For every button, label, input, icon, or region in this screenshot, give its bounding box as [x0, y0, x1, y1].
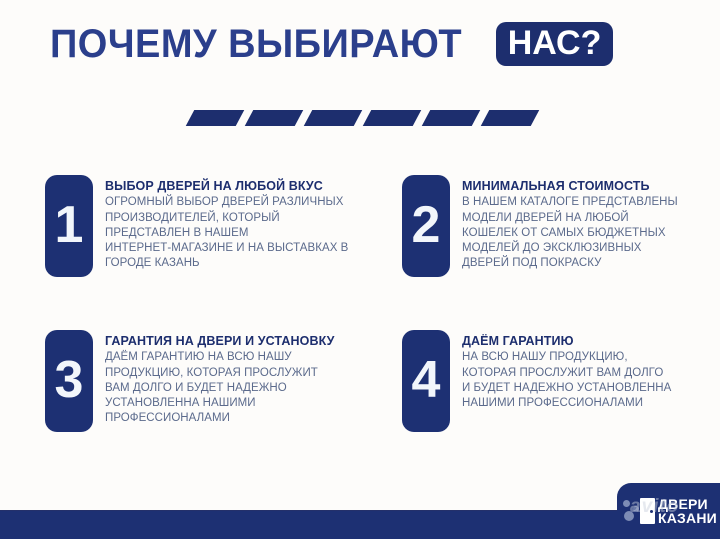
feature-heading: МИНИМАЛЬНАЯ СТОИМОСТЬ: [462, 179, 712, 193]
feature-text: МИНИМАЛЬНАЯ СТОИМОСТЬ В НАШЕМ КАТАЛОГЕ П…: [462, 175, 712, 271]
page-title: ПОЧЕМУ ВЫБИРАЮТ НАС?: [50, 18, 690, 70]
feature-number: 1: [55, 199, 84, 251]
feature-item: 1 ВЫБОР ДВЕРЕЙ НА ЛЮБОЙ ВКУС ОГРОМНЫЙ ВЫ…: [45, 175, 355, 277]
logo-wordmark: ДВЕРИ КАЗАНИ: [658, 497, 717, 526]
feature-body-line: ПРЕДСТАВЛЕН В НАШЕМ: [105, 226, 355, 241]
feature-body-line: КОТОРАЯ ПРОСЛУЖИТ ВАМ ДОЛГО: [462, 366, 712, 381]
feature-heading: ДАЁМ ГАРАНТИЮ: [462, 334, 712, 348]
feature-number-badge: 3: [45, 330, 93, 432]
feature-body-line: В НАШЕМ КАТАЛОГЕ ПРЕДСТАВЛЕНЫ: [462, 195, 712, 210]
feature-body-line: МОДЕЛЕЙ ДО ЭКСКЛЮЗИВНЫХ: [462, 241, 712, 256]
feature-number: 2: [412, 199, 441, 251]
page-title-badge-text: НАС?: [508, 26, 602, 60]
feature-text: ДАЁМ ГАРАНТИЮ НА ВСЮ НАШУ ПРОДУКЦИЮ, КОТ…: [462, 330, 712, 411]
logo-line-2: КАЗАНИ: [658, 511, 717, 525]
door-icon: [640, 498, 655, 524]
feature-body-line: НАШИМИ ПРОФЕССИОНАЛАМИ: [462, 396, 712, 411]
divider-stripe: [186, 110, 245, 126]
feature-number-badge: 2: [402, 175, 450, 277]
divider-stripe: [363, 110, 422, 126]
feature-body-line: ДВЕРЕЙ ПОД ПОКРАСКУ: [462, 256, 712, 271]
feature-body-line: МОДЕЛИ ДВЕРЕЙ НА ЛЮБОЙ: [462, 211, 712, 226]
divider-stripe: [481, 110, 540, 126]
feature-body: ОГРОМНЫЙ ВЫБОР ДВЕРЕЙ РАЗЛИЧНЫХ ПРОИЗВОД…: [105, 195, 355, 271]
divider-stripe: [304, 110, 363, 126]
feature-body-line: ПРОФЕССИОНАЛАМИ: [105, 411, 355, 426]
feature-body-line: ПРОДУКЦИЮ, КОТОРАЯ ПРОСЛУЖИТ: [105, 366, 355, 381]
feature-item: 2 МИНИМАЛЬНАЯ СТОИМОСТЬ В НАШЕМ КАТАЛОГЕ…: [402, 175, 712, 277]
feature-item: 3 ГАРАНТИЯ НА ДВЕРИ И УСТАНОВКУ ДАЁМ ГАР…: [45, 330, 355, 432]
feature-list: 1 ВЫБОР ДВЕРЕЙ НА ЛЮБОЙ ВКУС ОГРОМНЫЙ ВЫ…: [0, 168, 720, 458]
divider-stripes: [190, 110, 538, 128]
feature-number-badge: 1: [45, 175, 93, 277]
page-title-text: ПОЧЕМУ ВЫБИРАЮТ: [50, 24, 462, 64]
feature-text: ВЫБОР ДВЕРЕЙ НА ЛЮБОЙ ВКУС ОГРОМНЫЙ ВЫБО…: [105, 175, 355, 271]
bottom-bar: [0, 510, 720, 539]
divider-stripe: [422, 110, 481, 126]
feature-body-line: КОШЕЛЕК ОТ САМЫХ БЮДЖЕТНЫХ: [462, 226, 712, 241]
feature-body: НА ВСЮ НАШУ ПРОДУКЦИЮ, КОТОРАЯ ПРОСЛУЖИТ…: [462, 350, 712, 411]
feature-body-line: НА ВСЮ НАШУ ПРОДУКЦИЮ,: [462, 350, 712, 365]
feature-number-badge: 4: [402, 330, 450, 432]
feature-number: 4: [412, 354, 441, 406]
feature-body-line: ГОРОДЕ КАЗАНЬ: [105, 256, 355, 271]
feature-body: ДАЁМ ГАРАНТИЮ НА ВСЮ НАШУ ПРОДУКЦИЮ, КОТ…: [105, 350, 355, 426]
feature-heading: ГАРАНТИЯ НА ДВЕРИ И УСТАНОВКУ: [105, 334, 355, 348]
dots-icon: [623, 498, 639, 524]
divider-stripe: [245, 110, 304, 126]
feature-number: 3: [55, 354, 84, 406]
feature-body-line: ВАМ ДОЛГО И БУДЕТ НАДЕЖНО: [105, 381, 355, 396]
feature-body-line: ОГРОМНЫЙ ВЫБОР ДВЕРЕЙ РАЗЛИЧНЫХ: [105, 195, 355, 210]
feature-body-line: ИНТЕРНЕТ-МАГАЗИНЕ И НА ВЫСТАВКАХ В: [105, 241, 355, 256]
feature-body: В НАШЕМ КАТАЛОГЕ ПРЕДСТАВЛЕНЫ МОДЕЛИ ДВЕ…: [462, 195, 712, 271]
logo-line-1: ДВЕРИ: [658, 497, 717, 511]
company-logo[interactable]: ДВЕРИ КАЗАНИ: [617, 483, 720, 539]
feature-body-line: УСТАНОВЛЕННА НАШИМИ: [105, 396, 355, 411]
feature-heading: ВЫБОР ДВЕРЕЙ НА ЛЮБОЙ ВКУС: [105, 179, 355, 193]
page-title-badge: НАС?: [496, 22, 614, 66]
feature-body-line: ПРОИЗВОДИТЕЛЕЙ, КОТОРЫЙ: [105, 211, 355, 226]
feature-text: ГАРАНТИЯ НА ДВЕРИ И УСТАНОВКУ ДАЁМ ГАРАН…: [105, 330, 355, 426]
feature-body-line: И БУДЕТ НАДЕЖНО УСТАНОВЛЕННА: [462, 381, 712, 396]
feature-body-line: ДАЁМ ГАРАНТИЮ НА ВСЮ НАШУ: [105, 350, 355, 365]
feature-item: 4 ДАЁМ ГАРАНТИЮ НА ВСЮ НАШУ ПРОДУКЦИЮ, К…: [402, 330, 712, 432]
